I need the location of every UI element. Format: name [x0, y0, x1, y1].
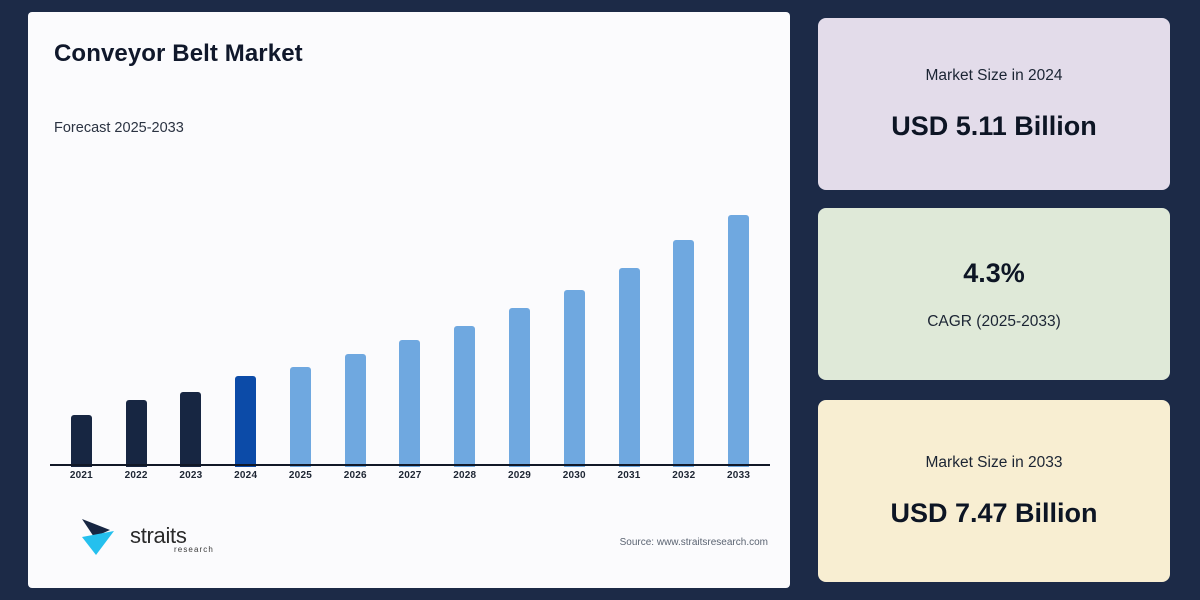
bar-slot: [711, 167, 766, 467]
x-tick-2033: 2033: [711, 470, 766, 481]
x-tick-2024: 2024: [218, 470, 273, 481]
x-axis-tick-labels: 2021202220232024202520262027202820292030…: [54, 470, 766, 481]
page-title: Conveyor Belt Market: [54, 40, 303, 68]
bar-slot: [328, 167, 383, 467]
chart-subtitle: Forecast 2025-2033: [54, 120, 184, 136]
bar-slot: [273, 167, 328, 467]
stat-card-label: Market Size in 2033: [926, 454, 1063, 472]
bar-2031: [619, 268, 640, 467]
chart-panel: Conveyor Belt Market Forecast 2025-2033 …: [28, 12, 790, 588]
bar-2026: [345, 354, 366, 467]
bar-2021: [71, 415, 92, 467]
x-tick-2031: 2031: [602, 470, 657, 481]
bar-2024: [235, 376, 256, 467]
stat-card-label: CAGR (2025-2033): [927, 313, 1061, 331]
x-tick-2028: 2028: [437, 470, 492, 481]
stat-card-market-size-2024: Market Size in 2024 USD 5.11 Billion: [818, 18, 1170, 190]
source-attribution: Source: www.straitsresearch.com: [620, 537, 768, 548]
stat-card-value: 4.3%: [963, 258, 1025, 289]
x-tick-2032: 2032: [656, 470, 711, 481]
logo-subtext: research: [174, 545, 214, 554]
stat-card-value: USD 5.11 Billion: [891, 111, 1097, 142]
bar-2029: [509, 308, 530, 467]
infographic-root: Conveyor Belt Market Forecast 2025-2033 …: [0, 0, 1200, 600]
bar-slot: [437, 167, 492, 467]
x-tick-2023: 2023: [164, 470, 219, 481]
bar-2033: [728, 215, 749, 467]
bar-slot: [492, 167, 547, 467]
bar-slot: [164, 167, 219, 467]
bar-2028: [454, 326, 475, 467]
bar-2030: [564, 290, 585, 467]
x-axis-line: [50, 464, 770, 466]
x-tick-2025: 2025: [273, 470, 328, 481]
straits-arrow-icon: [80, 517, 126, 561]
x-tick-2027: 2027: [383, 470, 438, 481]
bar-2022: [126, 400, 147, 467]
straits-research-logo: straits research: [80, 517, 260, 563]
x-tick-2030: 2030: [547, 470, 602, 481]
x-tick-2022: 2022: [109, 470, 164, 481]
x-tick-2026: 2026: [328, 470, 383, 481]
stat-card-market-size-2033: Market Size in 2033 USD 7.47 Billion: [818, 400, 1170, 582]
bar-slot: [109, 167, 164, 467]
stat-card-value: USD 7.47 Billion: [890, 498, 1097, 529]
bar-2025: [290, 367, 311, 467]
stat-card-cagr: 4.3% CAGR (2025-2033): [818, 208, 1170, 380]
bar-2032: [673, 240, 694, 467]
bar-slot: [547, 167, 602, 467]
x-tick-2021: 2021: [54, 470, 109, 481]
bar-slot: [218, 167, 273, 467]
bar-chart-plot: [54, 152, 766, 467]
bar-2027: [399, 340, 420, 467]
x-tick-2029: 2029: [492, 470, 547, 481]
bar-slot: [602, 167, 657, 467]
bar-slot: [656, 167, 711, 467]
bar-series: [54, 167, 766, 467]
bar-2023: [180, 392, 201, 467]
bar-slot: [54, 167, 109, 467]
stat-card-label: Market Size in 2024: [926, 67, 1063, 85]
bar-slot: [383, 167, 438, 467]
